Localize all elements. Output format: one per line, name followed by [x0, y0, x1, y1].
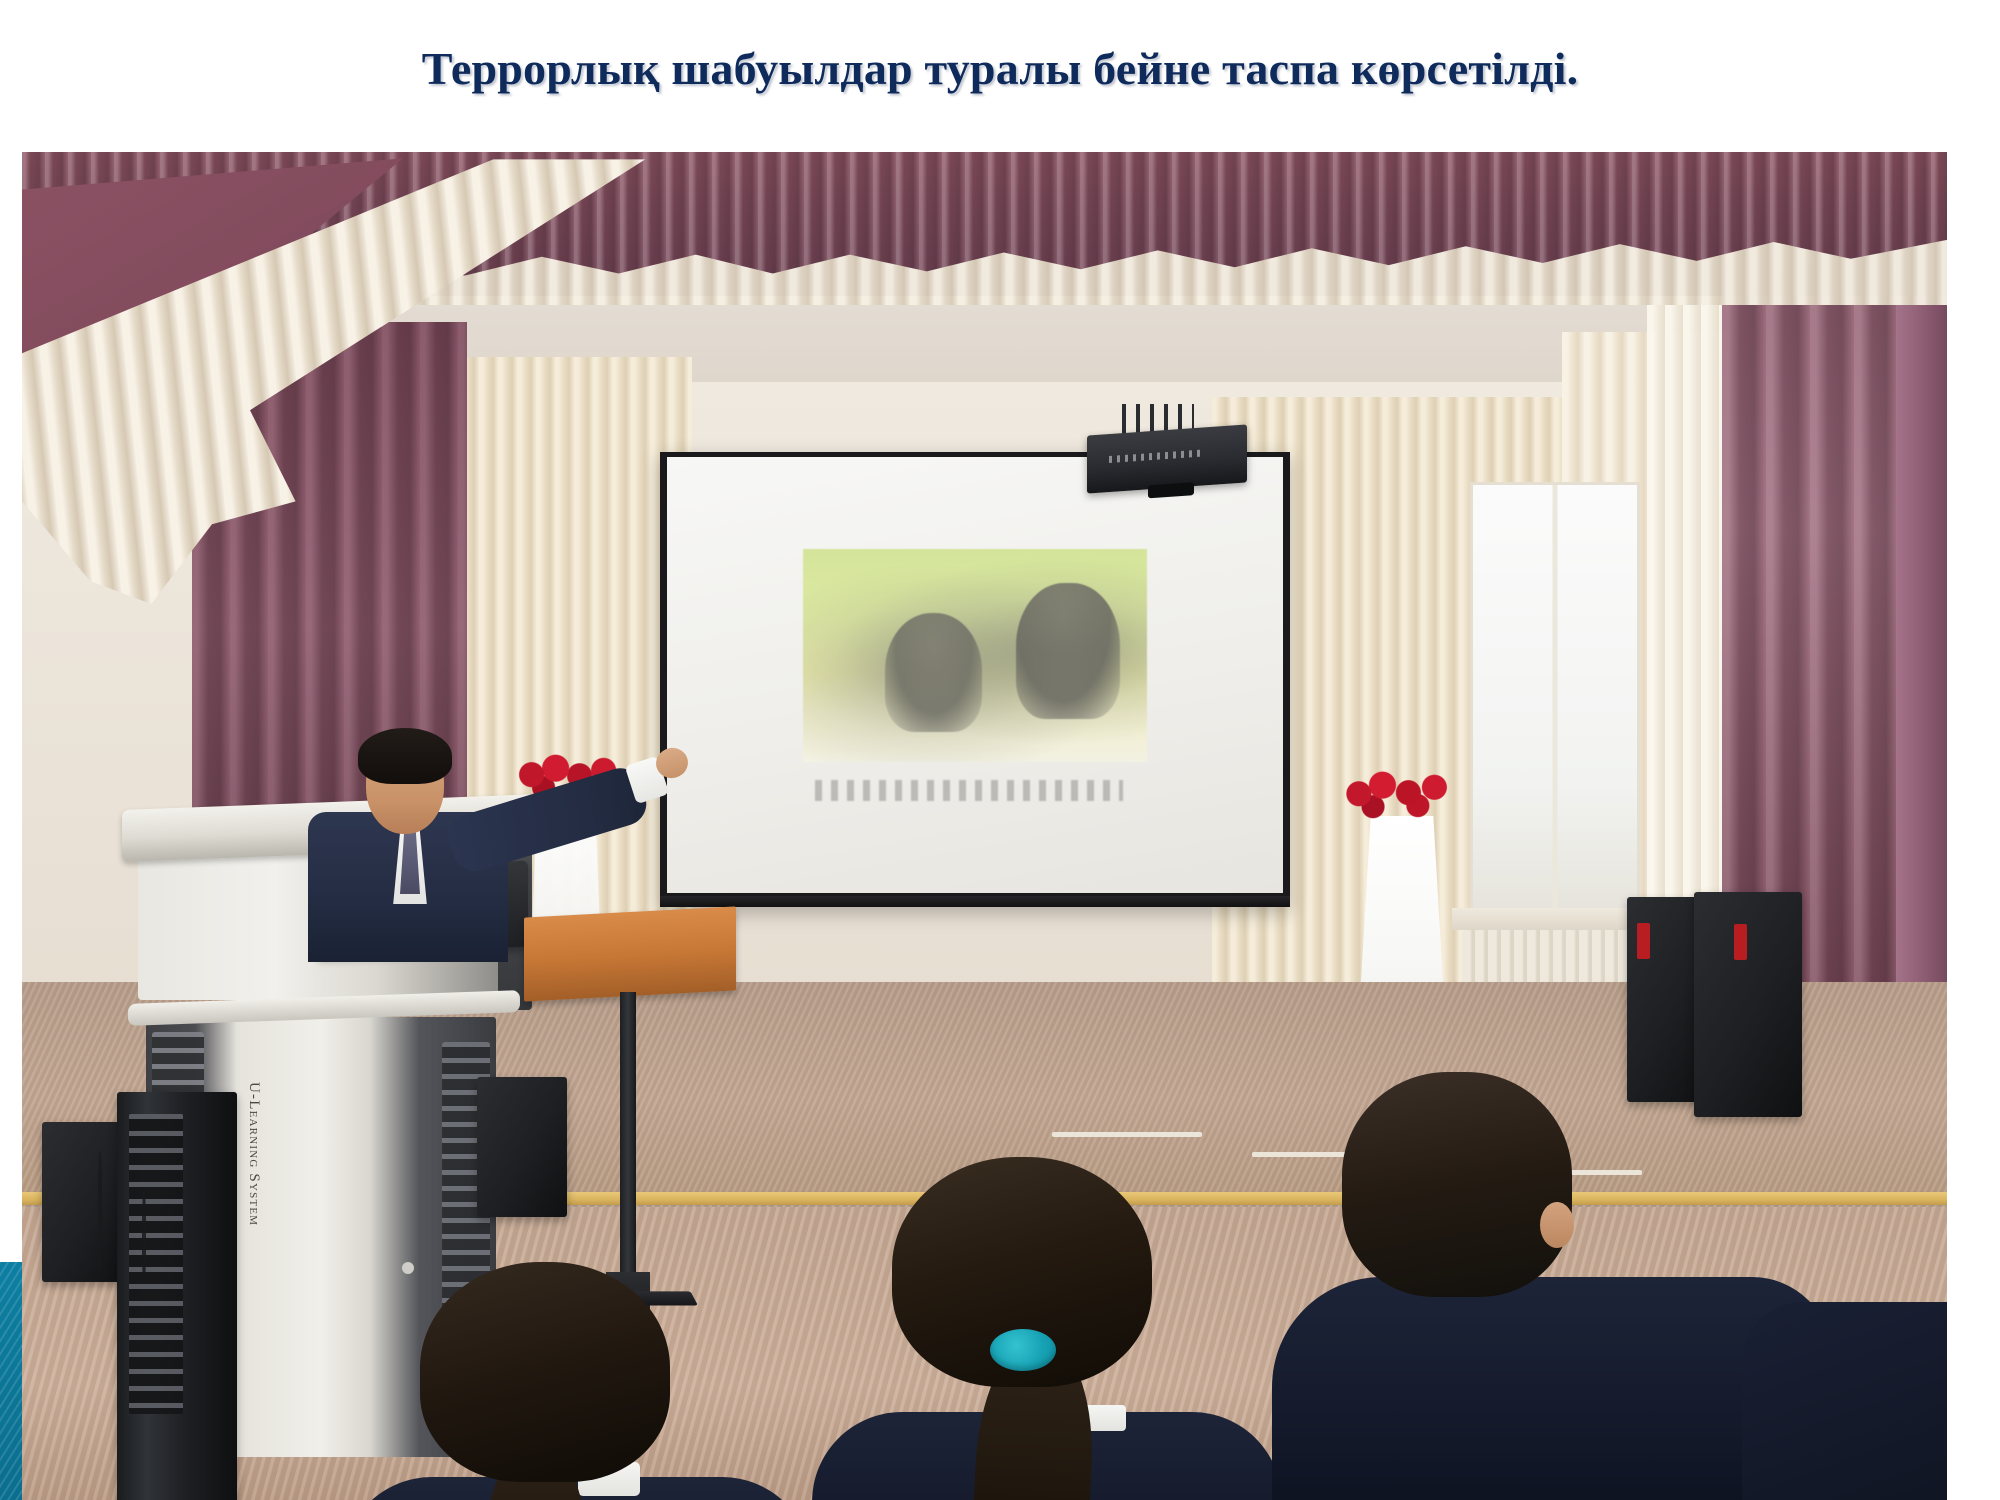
student-right [1312, 1072, 1792, 1500]
podium-brand-label: U-Learning System [245, 1082, 262, 1226]
student-ear [1540, 1202, 1574, 1248]
speaker-tower-left [117, 1092, 237, 1500]
ceiling-projector [1087, 424, 1247, 493]
presentation-slide: Террорлық шабуылдар туралы бейне таспа к… [0, 0, 2000, 1500]
window [1470, 482, 1640, 912]
wooden-lectern [524, 906, 736, 1001]
hair-scrunchie-icon [990, 1329, 1056, 1371]
projector-vents [1109, 449, 1205, 463]
red-roses-right [1340, 770, 1458, 824]
lectern-post [620, 992, 636, 1302]
page-title: Террорлық шабуылдар туралы бейне таспа к… [0, 44, 2000, 95]
speaker-grille [129, 1114, 183, 1414]
student-foreground-left [402, 1262, 782, 1500]
student-head [420, 1262, 670, 1482]
student-far-right [1742, 1302, 1947, 1500]
video-figure-right [1016, 583, 1119, 720]
window-mullion [1553, 485, 1558, 909]
floor-cable [142, 1192, 146, 1282]
slide-photograph: U-Learning System [22, 152, 1947, 1500]
stage-monitor-speaker [477, 1077, 567, 1217]
floor-cable [98, 1152, 102, 1272]
video-caption-bar [815, 780, 1123, 802]
video-figure-left [885, 613, 982, 733]
projected-video-frame [803, 549, 1148, 763]
speaker-handle-red [1734, 924, 1747, 960]
student-head [1342, 1072, 1572, 1297]
student-center [882, 1157, 1312, 1500]
screen-weight-bar [660, 896, 1290, 907]
projection-screen [660, 452, 1290, 907]
presenter-hair [358, 728, 452, 784]
speaker-handle-red [1637, 923, 1650, 959]
stage-edge-marker [1052, 1132, 1202, 1137]
student-uniform [1742, 1302, 1947, 1500]
projection-screen-surface [667, 457, 1283, 893]
